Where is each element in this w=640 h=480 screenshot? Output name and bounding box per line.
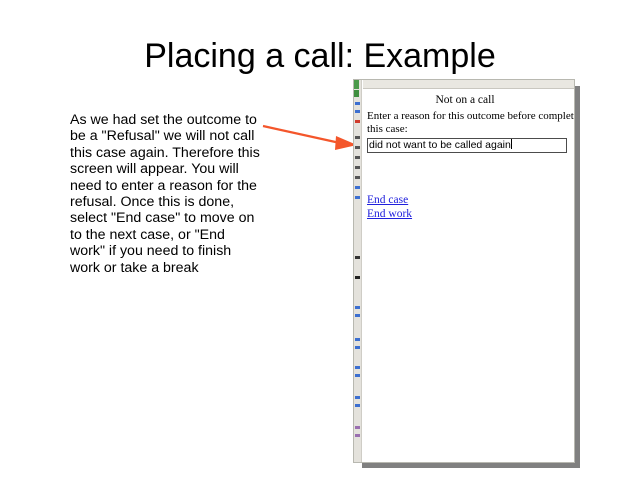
clipped-text-fragment [355,196,360,199]
captured-page-content: Not on a call Enter a reason for this ou… [363,90,574,462]
slide-body-text: As we had set the outcome to be a "Refus… [70,112,260,276]
clipped-text-fragment [355,426,360,429]
page-title: Placing a call: Example [0,36,640,76]
clipped-text-fragment [355,102,360,105]
reason-input[interactable]: did not want to be called again [367,138,567,153]
end-case-link[interactable]: End case [367,194,408,206]
end-work-link[interactable]: End work [367,208,412,220]
clipped-text-fragment [355,176,360,179]
clipped-text-fragment [355,256,360,259]
clipped-text-fragment [355,166,360,169]
slide-canvas: Placing a call: Example As we had set th… [0,0,640,480]
clipped-text-fragment [355,156,360,159]
reason-input-value: did not want to be called again [369,139,511,151]
clipped-text-fragment [355,396,360,399]
clipped-left-gutter [354,80,362,462]
green-marker-fragment [354,80,359,89]
clipped-text-fragment [355,146,360,149]
clipped-text-fragment [355,404,360,407]
clipped-text-fragment [355,306,360,309]
embedded-screenshot-panel: Not on a call Enter a reason for this ou… [353,79,575,463]
clipped-text-fragment [355,434,360,437]
clipped-text-fragment [355,338,360,341]
clipped-text-fragment [355,366,360,369]
capture-heading: Not on a call [363,94,567,106]
clipped-text-fragment [355,136,360,139]
clipped-text-fragment [355,120,360,123]
clipped-text-fragment [355,374,360,377]
orange-arrow-icon [258,114,363,156]
clipped-text-fragment [355,314,360,317]
clipped-toolbar-strip [363,80,574,89]
clipped-text-fragment [355,110,360,113]
arrow-shaft [263,126,340,143]
text-caret [511,139,512,149]
clipped-text-fragment [355,276,360,279]
clipped-text-fragment [355,346,360,349]
capture-instruction-text: Enter a reason for this outcome before c… [367,110,574,136]
clipped-text-fragment [355,186,360,189]
green-marker-fragment-2 [354,90,359,97]
